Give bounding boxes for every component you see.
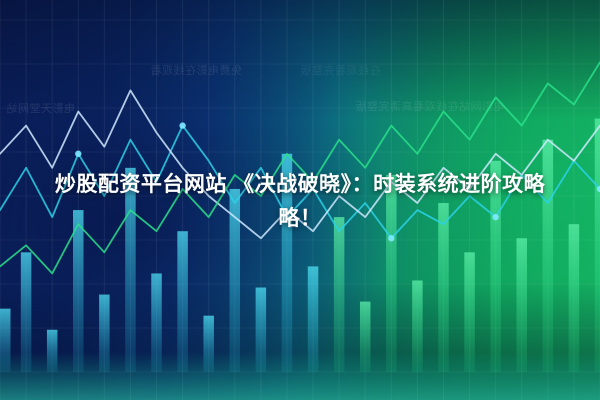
headline-line-1: 炒股配资平台网站 《决战破晓》：时装系统进阶攻略	[55, 173, 545, 196]
bottom-glow	[0, 352, 600, 400]
image-canvas: 电影天堂网站 免费电影在线观看 电影网站在线观看高清完整版 在线观看完整版 炒股…	[0, 0, 600, 400]
headline-line-2: 略！	[8, 202, 592, 236]
chart-volume-bars	[0, 119, 600, 372]
headline-overlay: 炒股配资平台网站 《决战破晓》：时装系统进阶攻略 略！	[0, 168, 600, 236]
